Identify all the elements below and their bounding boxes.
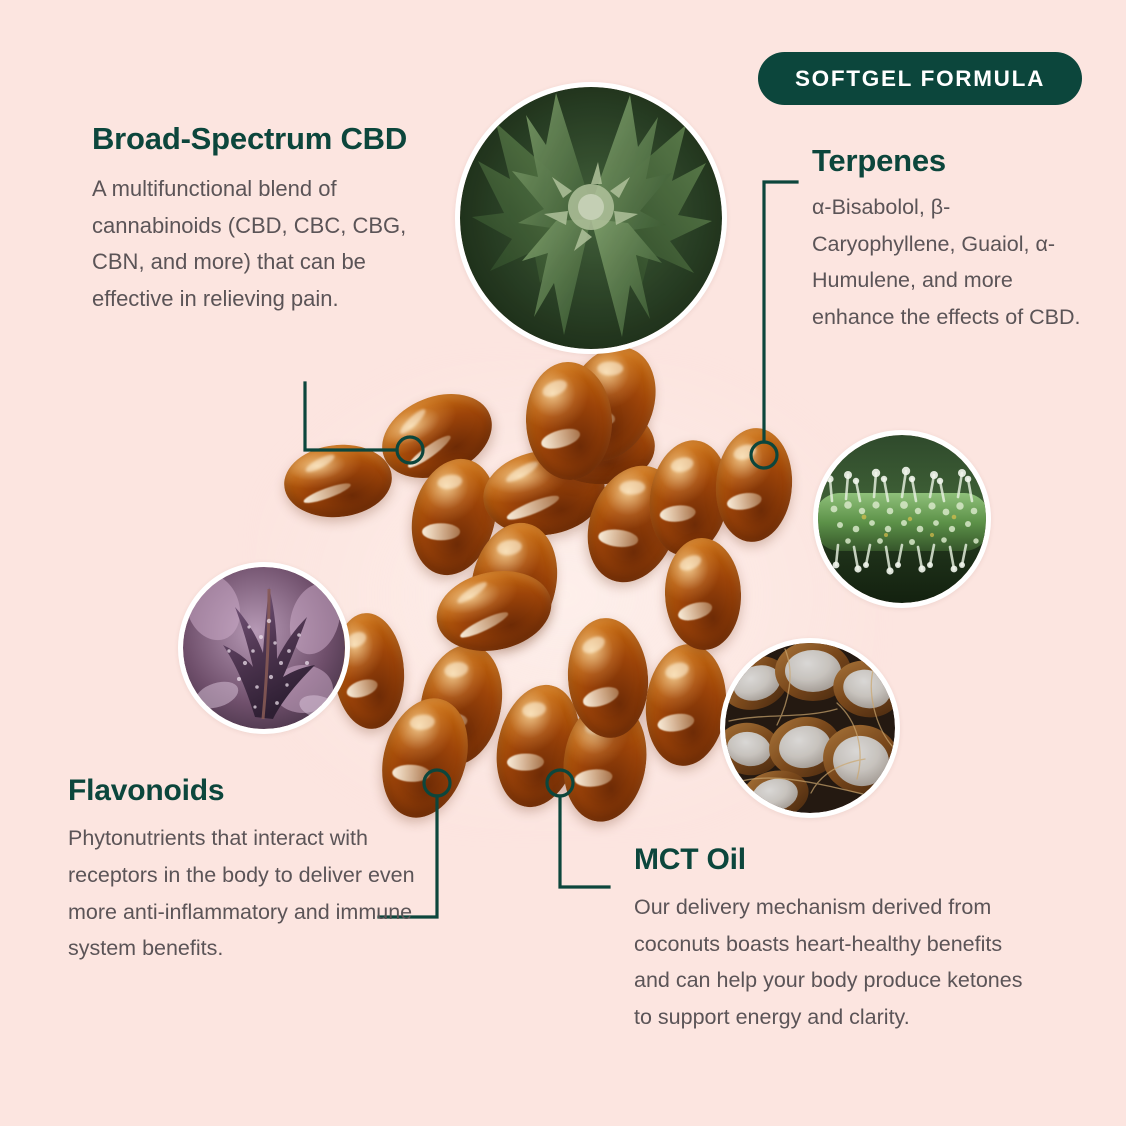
purple-leaf-photo-image bbox=[183, 567, 345, 729]
callout-body-broad-spectrum-cbd: A multifunctional blend of cannabinoids … bbox=[92, 171, 432, 317]
callout-flavonoids: Flavonoids Phytonutrients that interact … bbox=[68, 772, 420, 967]
callout-body-mct-oil: Our delivery mechanism derived from coco… bbox=[634, 889, 1034, 1035]
trichome-macro-illustration bbox=[818, 435, 986, 603]
cannabis-plant-photo bbox=[455, 82, 727, 354]
purple-trichome-leaf-photo bbox=[178, 562, 350, 734]
callout-broad-spectrum-cbd: Broad-Spectrum CBD A multifunctional ble… bbox=[92, 120, 432, 317]
coconut-halves-photo bbox=[720, 638, 900, 818]
softgel-capsule bbox=[641, 641, 731, 770]
trichome-photo-image bbox=[818, 435, 986, 603]
coconut-photo-image bbox=[725, 643, 895, 813]
cannabis-plant-photo-image bbox=[460, 87, 722, 349]
softgel-capsule bbox=[281, 440, 396, 523]
softgel-formula-badge-label: SOFTGEL FORMULA bbox=[795, 66, 1045, 92]
callout-mct-oil: MCT Oil Our delivery mechanism derived f… bbox=[634, 841, 1034, 1035]
callout-terpenes: Terpenes α-Bisabolol, β-Caryophyllene, G… bbox=[812, 142, 1092, 335]
softgel-formula-badge: SOFTGEL FORMULA bbox=[758, 52, 1082, 105]
purple-leaf-illustration bbox=[183, 567, 345, 729]
callout-title-broad-spectrum-cbd: Broad-Spectrum CBD bbox=[92, 120, 432, 158]
callout-body-terpenes: α-Bisabolol, β-Caryophyllene, Guaiol, α-… bbox=[812, 189, 1092, 335]
callout-title-terpenes: Terpenes bbox=[812, 142, 1092, 180]
cannabis-plant-illustration bbox=[460, 87, 722, 349]
softgel-capsule bbox=[712, 425, 796, 544]
callout-title-mct-oil: MCT Oil bbox=[634, 841, 1034, 879]
callout-title-flavonoids: Flavonoids bbox=[68, 772, 420, 810]
coconut-halves-illustration bbox=[725, 643, 895, 813]
softgel-capsule bbox=[663, 537, 743, 652]
infographic-canvas: SOFTGEL FORMULA Broad-Spectrum CBD A mul… bbox=[0, 0, 1126, 1126]
trichome-macro-photo bbox=[813, 430, 991, 608]
callout-body-flavonoids: Phytonutrients that interact with recept… bbox=[68, 820, 420, 967]
